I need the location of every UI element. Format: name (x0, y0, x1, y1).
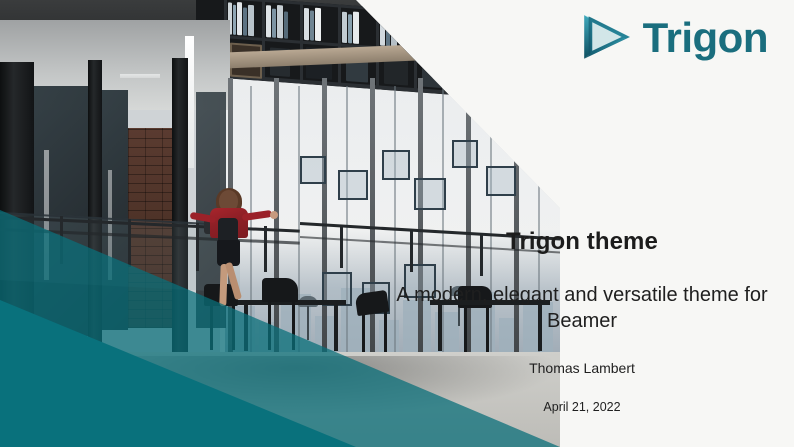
slide-date: April 21, 2022 (396, 400, 768, 414)
brand-logo: Trigon (579, 12, 768, 64)
slide-title: Trigon theme (396, 228, 768, 256)
brand-wordmark: Trigon (643, 17, 768, 59)
slide-author: Thomas Lambert (396, 360, 768, 376)
title-text-block: Trigon theme A modern, elegant and versa… (396, 228, 768, 414)
trigon-play-triangle-icon (579, 12, 631, 64)
title-slide: Trigon Trigon theme A modern, elegant an… (0, 0, 794, 447)
slide-subtitle: A modern, elegant and versatile theme fo… (396, 282, 768, 335)
